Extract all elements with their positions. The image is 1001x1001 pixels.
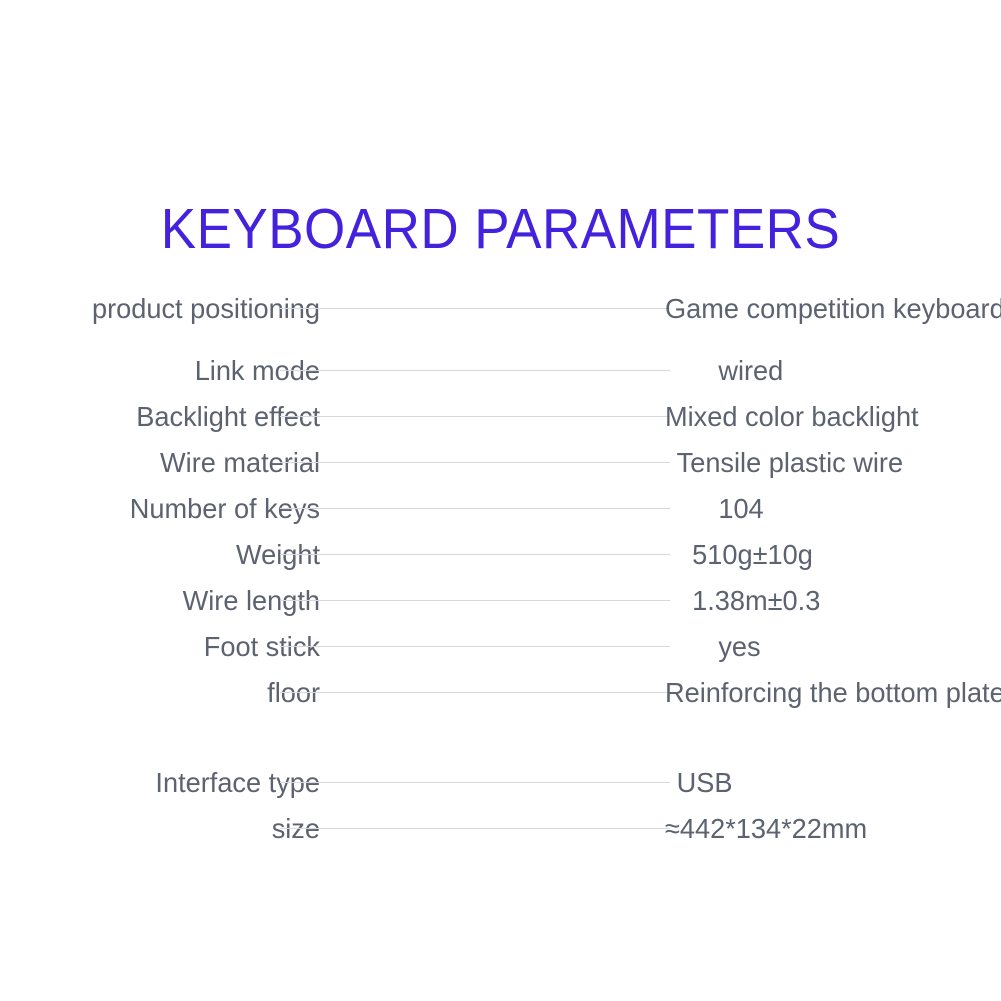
spec-label: product positioning	[10, 286, 320, 332]
spec-row-link-mode: Link mode wired	[0, 334, 1001, 380]
spec-connector-rule	[320, 746, 665, 792]
spec-connector-rule	[320, 564, 665, 610]
spec-value: Tensile plastic wire	[665, 440, 991, 486]
spec-connector-rule	[320, 656, 665, 702]
page-title: KEYBOARD PARAMETERS	[35, 198, 966, 260]
spec-connector-rule	[320, 610, 665, 656]
spec-connector-rule	[320, 426, 665, 472]
spec-value: USB	[665, 760, 991, 806]
spec-value: wired	[665, 348, 991, 394]
spec-connector-rule	[320, 792, 665, 838]
spec-label: size	[10, 806, 320, 852]
spec-row-interface-type: Interface type USB	[0, 746, 1001, 792]
spec-value: 104	[665, 486, 991, 532]
spec-label: floor	[10, 670, 320, 716]
spec-connector-rule	[320, 334, 665, 380]
spec-row-product-positioning: product positioning Game competition key…	[0, 272, 1001, 318]
spec-value: ≈442*134*22mm	[665, 806, 991, 852]
spec-value: 1.38m±0.3	[665, 578, 991, 624]
spec-table: product positioning Game competition key…	[0, 272, 1001, 838]
spec-sheet-page: KEYBOARD PARAMETERS product positioning …	[0, 0, 1001, 1001]
spec-value: Mixed color backlight	[665, 394, 991, 440]
spec-value: yes	[665, 624, 991, 670]
spec-connector-rule	[320, 380, 665, 426]
spec-connector-rule	[320, 472, 665, 518]
spec-value: Game competition keyboard	[665, 286, 1001, 332]
spec-connector-rule	[320, 518, 665, 564]
spec-value: Reinforcing the bottom plate	[665, 670, 1001, 716]
spec-value: 510g±10g	[665, 532, 991, 578]
spec-connector-rule	[320, 272, 665, 318]
